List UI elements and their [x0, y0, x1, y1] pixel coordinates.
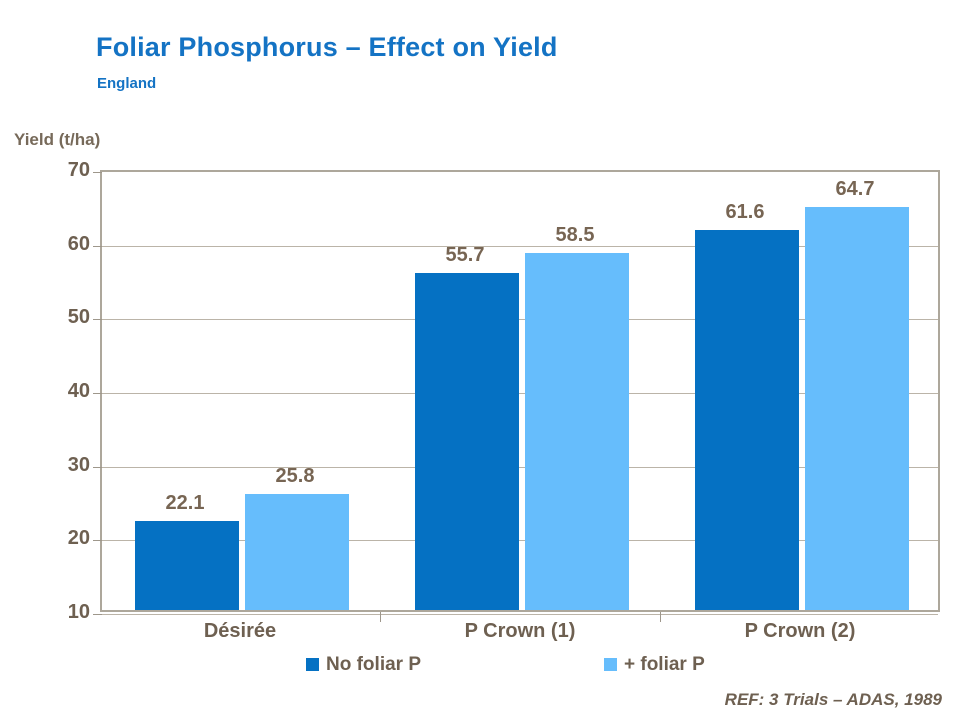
category-separator: [380, 612, 381, 622]
bar-value-label: 64.7: [803, 179, 907, 199]
y-axis-tick-label: 70: [42, 160, 90, 180]
y-axis-tick: [93, 246, 102, 247]
bar-plus-foliar-p[interactable]: [805, 207, 909, 610]
bar-value-label: 22.1: [133, 493, 237, 513]
legend-label: + foliar P: [624, 655, 705, 674]
chart-subtitle: England: [97, 75, 156, 92]
legend-item-no-foliar-p[interactable]: No foliar P: [306, 655, 421, 674]
y-axis-tick-label: 50: [42, 307, 90, 327]
bar-no-foliar-p[interactable]: [695, 230, 799, 610]
bar-no-foliar-p[interactable]: [415, 273, 519, 610]
y-axis-tick-label: 30: [42, 455, 90, 475]
y-axis-tick-label: 10: [42, 602, 90, 622]
bar-value-label: 61.6: [693, 202, 797, 222]
y-axis-tick-labels: 70605040302010: [38, 170, 90, 612]
y-axis-tick: [93, 393, 102, 394]
y-axis-tick: [93, 614, 102, 615]
category-label: P Crown (1): [380, 620, 660, 643]
legend-swatch-icon: [306, 658, 319, 671]
reference-note: REF: 3 Trials – ADAS, 1989: [725, 690, 942, 710]
chart-legend: No foliar P+ foliar P: [0, 655, 960, 679]
legend-item-plus-foliar-p[interactable]: + foliar P: [604, 655, 705, 674]
y-axis-tick: [93, 319, 102, 320]
plot-area: [100, 170, 940, 612]
page-title: Foliar Phosphorus – Effect on Yield: [96, 32, 558, 63]
y-axis-tick-label: 40: [42, 381, 90, 401]
y-axis-tick: [93, 467, 102, 468]
y-axis-tick-label: 60: [42, 234, 90, 254]
bar-no-foliar-p[interactable]: [135, 521, 239, 610]
bar-value-label: 55.7: [413, 245, 517, 265]
bar-plus-foliar-p[interactable]: [245, 494, 349, 610]
y-axis-tick: [93, 540, 102, 541]
legend-swatch-icon: [604, 658, 617, 671]
category-label: P Crown (2): [660, 620, 940, 643]
category-label: Désirée: [100, 620, 380, 643]
y-axis-tick-label: 20: [42, 528, 90, 548]
y-axis-tick: [93, 172, 102, 173]
bar-value-label: 58.5: [523, 225, 627, 245]
legend-label: No foliar P: [326, 655, 421, 674]
category-separator: [660, 612, 661, 622]
bar-value-label: 25.8: [243, 466, 347, 486]
y-axis-title: Yield (t/ha): [14, 130, 100, 150]
bar-plus-foliar-p[interactable]: [525, 253, 629, 610]
gridline: [102, 614, 938, 615]
